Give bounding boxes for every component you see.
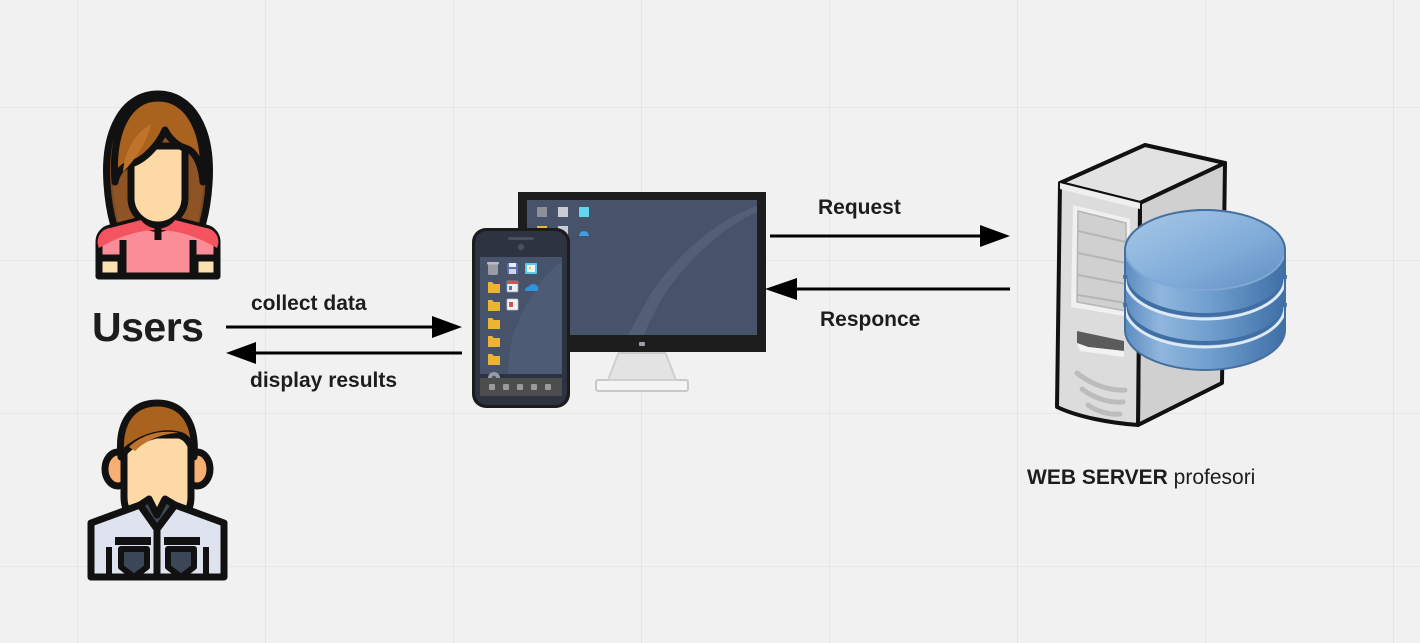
request-label: Request xyxy=(818,196,901,220)
display-results-label: display results xyxy=(250,369,397,393)
arrow-display-results xyxy=(226,342,462,364)
arrow-request xyxy=(770,225,1010,247)
database-cylinder-icon xyxy=(1125,210,1285,370)
male-user-avatar xyxy=(85,397,230,577)
web-server-label: WEB SERVER profesori xyxy=(1027,466,1255,490)
mobile-phone xyxy=(472,228,570,408)
collect-data-label: collect data xyxy=(251,292,367,316)
web-server-label-bold: WEB SERVER xyxy=(1027,466,1168,489)
diagram-canvas: Users collect data xyxy=(0,0,1420,643)
arrow-responce xyxy=(765,278,1010,300)
web-server-label-regular: profesori xyxy=(1168,466,1256,489)
female-user-avatar xyxy=(93,88,223,276)
web-server-database xyxy=(1030,135,1295,455)
responce-label: Responce xyxy=(820,308,920,332)
users-label: Users xyxy=(92,304,203,351)
arrow-collect-data xyxy=(226,316,462,338)
